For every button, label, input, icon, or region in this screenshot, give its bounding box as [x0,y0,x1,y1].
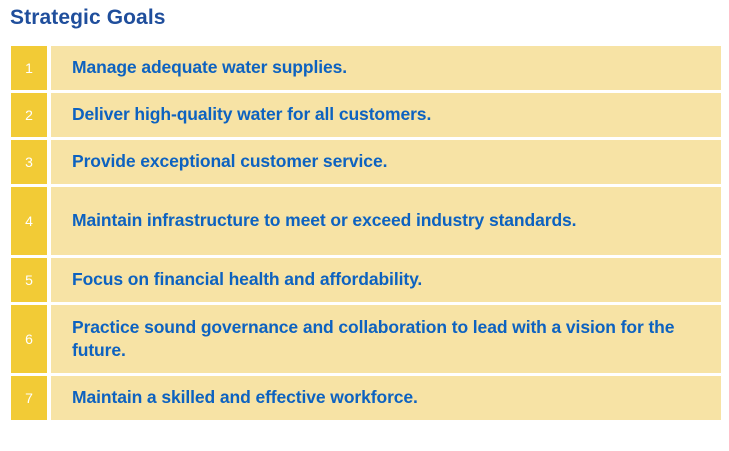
page-root: Strategic Goals 1 Manage adequate water … [0,0,729,451]
goal-text-cell: Focus on financial health and affordabil… [51,258,721,302]
goal-text: Focus on financial health and affordabil… [72,268,422,291]
goal-number-cell: 7 [11,376,47,420]
goal-number-cell: 1 [11,46,47,90]
goal-text: Deliver high-quality water for all custo… [72,103,431,126]
goal-text-cell: Provide exceptional customer service. [51,140,721,184]
goal-text: Maintain a skilled and effective workfor… [72,386,418,409]
goal-text: Provide exceptional customer service. [72,150,387,173]
goal-number: 6 [25,332,33,346]
goal-number: 2 [25,108,33,122]
page-title-container: Strategic Goals [10,0,166,34]
table-row: 5 Focus on financial health and affordab… [11,258,721,305]
strategic-goals-table: 1 Manage adequate water supplies. 2 Deli… [11,46,721,420]
goal-number-cell: 2 [11,93,47,137]
goal-number-cell: 3 [11,140,47,184]
goal-text-cell: Practice sound governance and collaborat… [51,305,721,373]
goal-text-cell: Deliver high-quality water for all custo… [51,93,721,137]
table-row: 7 Maintain a skilled and effective workf… [11,376,721,420]
goal-text-cell: Maintain infrastructure to meet or excee… [51,187,721,255]
goal-number: 7 [25,391,33,405]
goal-number: 3 [25,155,33,169]
table-row: 6 Practice sound governance and collabor… [11,305,721,376]
table-row: 3 Provide exceptional customer service. [11,140,721,187]
goal-text-cell: Manage adequate water supplies. [51,46,721,90]
goal-number-cell: 5 [11,258,47,302]
table-row: 2 Deliver high-quality water for all cus… [11,93,721,140]
goal-text: Maintain infrastructure to meet or excee… [72,209,576,232]
goal-number: 1 [25,61,33,75]
goal-number-cell: 4 [11,187,47,255]
goal-text: Practice sound governance and collaborat… [72,316,707,362]
table-row: 4 Maintain infrastructure to meet or exc… [11,187,721,258]
goal-text: Manage adequate water supplies. [72,56,347,79]
goal-number: 5 [25,273,33,287]
page-title: Strategic Goals [10,7,166,28]
goal-text-cell: Maintain a skilled and effective workfor… [51,376,721,420]
goal-number: 4 [25,214,33,228]
goal-number-cell: 6 [11,305,47,373]
table-row: 1 Manage adequate water supplies. [11,46,721,93]
